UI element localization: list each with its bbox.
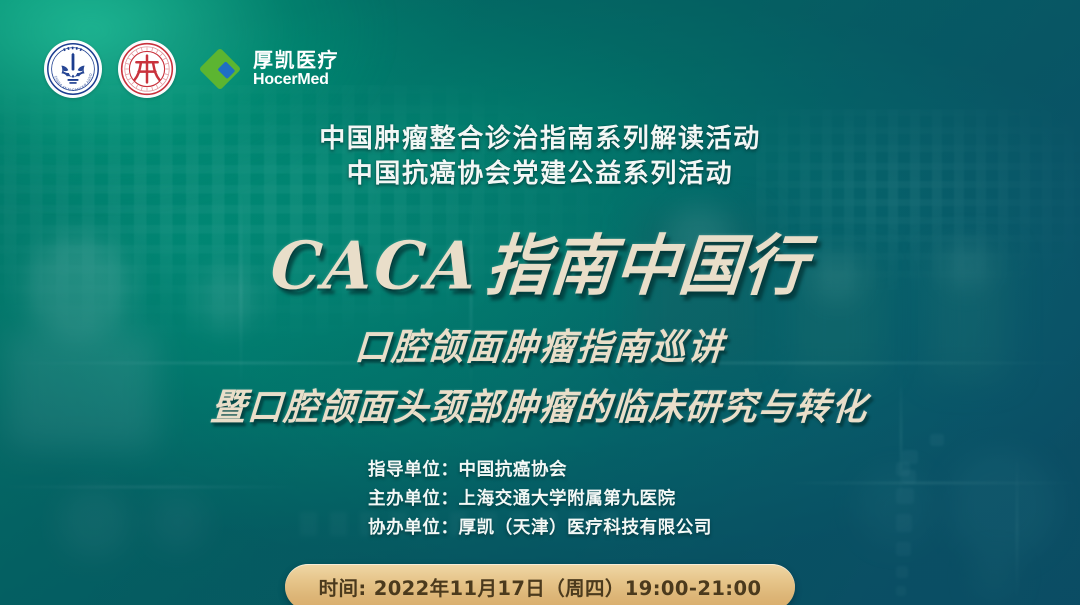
organizer-co-host: 协办单位：厚凯（天津）医疗科技有限公司: [368, 514, 712, 539]
logo-row: CHINA ANTI-CANCER ASSOCIATION: [44, 40, 339, 98]
poster-subtitle-1: 口腔颌面肿瘤指南巡讲: [353, 318, 727, 371]
event-poster: CHINA ANTI-CANCER ASSOCIATION: [0, 0, 1080, 605]
main-title-cn: 指南中国行: [483, 227, 811, 304]
china-anti-cancer-association-logo: CHINA ANTI-CANCER ASSOCIATION: [44, 40, 102, 98]
hocermed-sponsor-logo: 厚凯医疗 HocerMed: [196, 45, 339, 93]
event-time-badge: 时间: 2022年11月17日（周四）19:00-21:00: [285, 564, 796, 605]
poster-main-title: CACA指南中国行: [268, 212, 813, 307]
organizer-guidance: 指导单位：中国抗癌协会: [368, 456, 567, 481]
shanghai-ninth-hospital-logo: [118, 40, 176, 98]
poster-subtitle-2: 暨口腔颌面头颈部肿瘤的临床研究与转化: [210, 378, 871, 431]
main-title-roman: CACA: [268, 227, 482, 304]
kicker-line-2: 中国抗癌协会党建公益系列活动: [347, 157, 733, 192]
kicker-line-1: 中国肿瘤整合诊治指南系列解读活动: [319, 122, 761, 157]
hocermed-label-en: HocerMed: [253, 72, 339, 88]
hocermed-diamond-icon: [196, 45, 244, 93]
poster-content: 中国肿瘤整合诊治指南系列解读活动 中国抗癌协会党建公益系列活动 CACA指南中国…: [0, 122, 1080, 605]
hocermed-label-cn: 厚凯医疗: [253, 50, 339, 70]
organizer-list: 指导单位：中国抗癌协会 主办单位：上海交通大学附属第九医院 协办单位：厚凯（天津…: [368, 456, 712, 539]
organizer-host: 主办单位：上海交通大学附属第九医院: [368, 485, 676, 510]
